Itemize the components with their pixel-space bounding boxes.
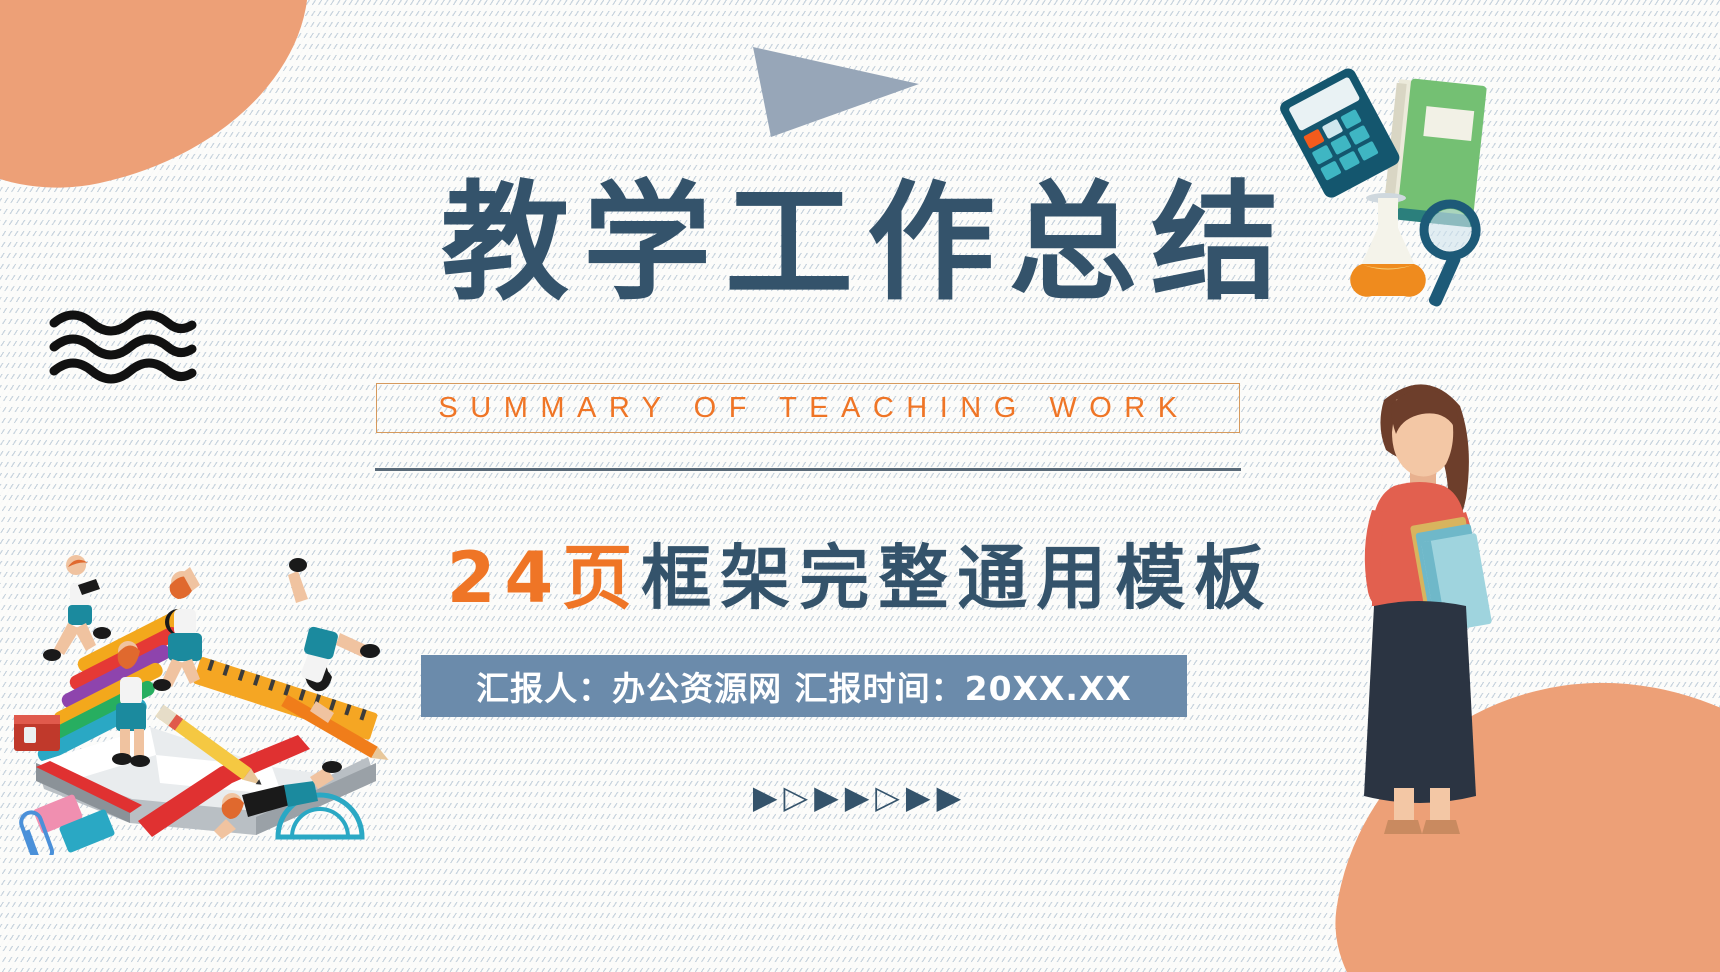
gray-triangle-icon — [735, 40, 935, 140]
divider-line — [375, 468, 1241, 471]
tagline: 24页框架完整通用模板 — [0, 522, 1720, 623]
tagline-rest-label: 框架完整通用模板 — [641, 537, 1273, 619]
subtitle-box: SUMMARY OF TEACHING WORK — [376, 383, 1240, 433]
presentation-slide: 教学工作总结 SUMMARY OF TEACHING WORK 24页框架完整通… — [0, 0, 1720, 972]
presenter-bar: 汇报人：办公资源网 汇报时间：20XX.XX — [421, 655, 1187, 717]
page-count-label: 24页 — [447, 537, 641, 619]
black-wave-lines-icon — [48, 305, 208, 385]
presenter-info: 汇报人：办公资源网 汇报时间：20XX.XX — [476, 662, 1132, 710]
title-block: 教学工作总结 — [0, 176, 1720, 312]
subtitle-english: SUMMARY OF TEACHING WORK — [426, 392, 1189, 425]
arrow-decoration: ▶▷▶▶▷▶▶ — [0, 778, 1720, 816]
page-title: 教学工作总结 — [0, 176, 1720, 312]
